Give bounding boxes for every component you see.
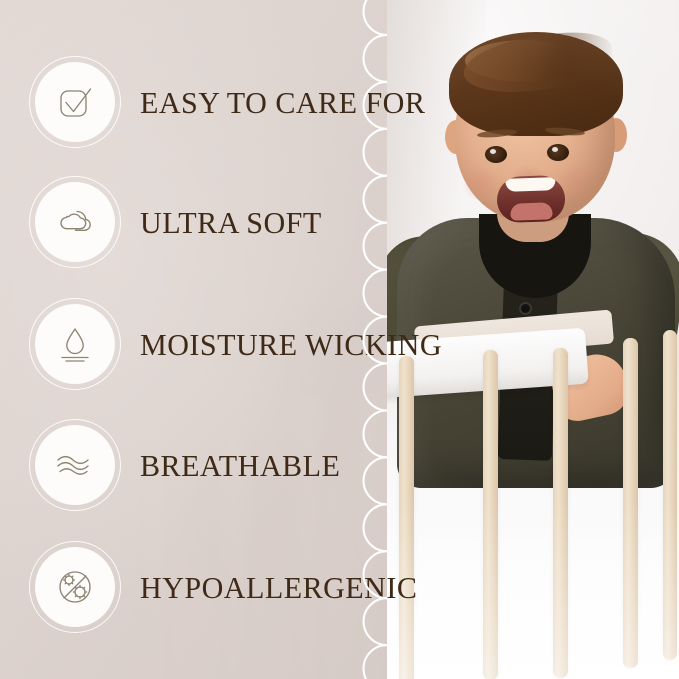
feature-list: EASY TO CARE FOR ULTRA SOFT MOISTURE WIC… (0, 0, 679, 679)
feature-label: MOISTURE WICKING (140, 329, 442, 360)
feature-item-breathable[interactable]: BREATHABLE (36, 426, 347, 504)
feature-item-hypoallergenic[interactable]: HYPOALLERGENIC (36, 548, 426, 626)
air-waves-icon (36, 426, 114, 504)
feature-item-moisture-wicking[interactable]: MOISTURE WICKING (36, 305, 451, 383)
water-droplet-icon (36, 305, 114, 383)
feature-item-easy-to-care-for[interactable]: EASY TO CARE FOR (36, 63, 434, 141)
feature-label: EASY TO CARE FOR (140, 87, 425, 118)
feature-item-ultra-soft[interactable]: ULTRA SOFT (36, 183, 327, 261)
checkmark-square-icon (36, 63, 114, 141)
feature-label: ULTRA SOFT (140, 207, 322, 238)
no-allergen-icon (36, 548, 114, 626)
feature-label: HYPOALLERGENIC (140, 572, 417, 603)
feature-label: BREATHABLE (140, 450, 340, 481)
cloud-icon (36, 183, 114, 261)
product-feature-infographic: EASY TO CARE FOR ULTRA SOFT MOISTURE WIC… (0, 0, 679, 679)
